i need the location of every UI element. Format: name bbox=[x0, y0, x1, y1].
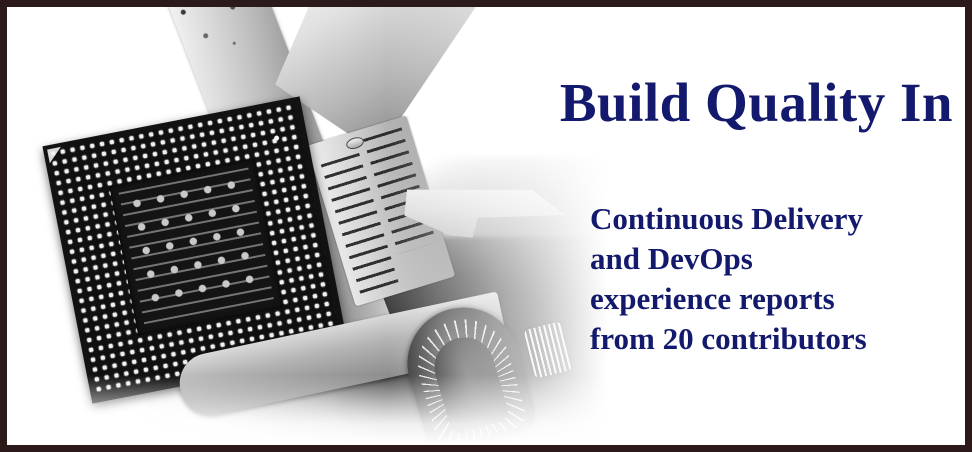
subtitle-line-2: and DevOps bbox=[590, 239, 955, 279]
subtitle-line-3: experience reports bbox=[590, 279, 955, 319]
cpu-orientation-notch bbox=[47, 147, 63, 163]
cpu-core-area bbox=[109, 158, 283, 335]
cpu-capacitor-grid bbox=[130, 177, 262, 314]
subtitle-line-1: Continuous Delivery bbox=[590, 199, 955, 239]
vernier-screw-icon bbox=[345, 135, 365, 151]
subtitle-line-4: from 20 contributors bbox=[590, 319, 955, 359]
cover-title: Build Quality In bbox=[483, 73, 953, 133]
cover-subtitle: Continuous Delivery and DevOps experienc… bbox=[590, 199, 955, 359]
book-cover: Build Quality In Continuous Delivery and… bbox=[0, 0, 972, 452]
